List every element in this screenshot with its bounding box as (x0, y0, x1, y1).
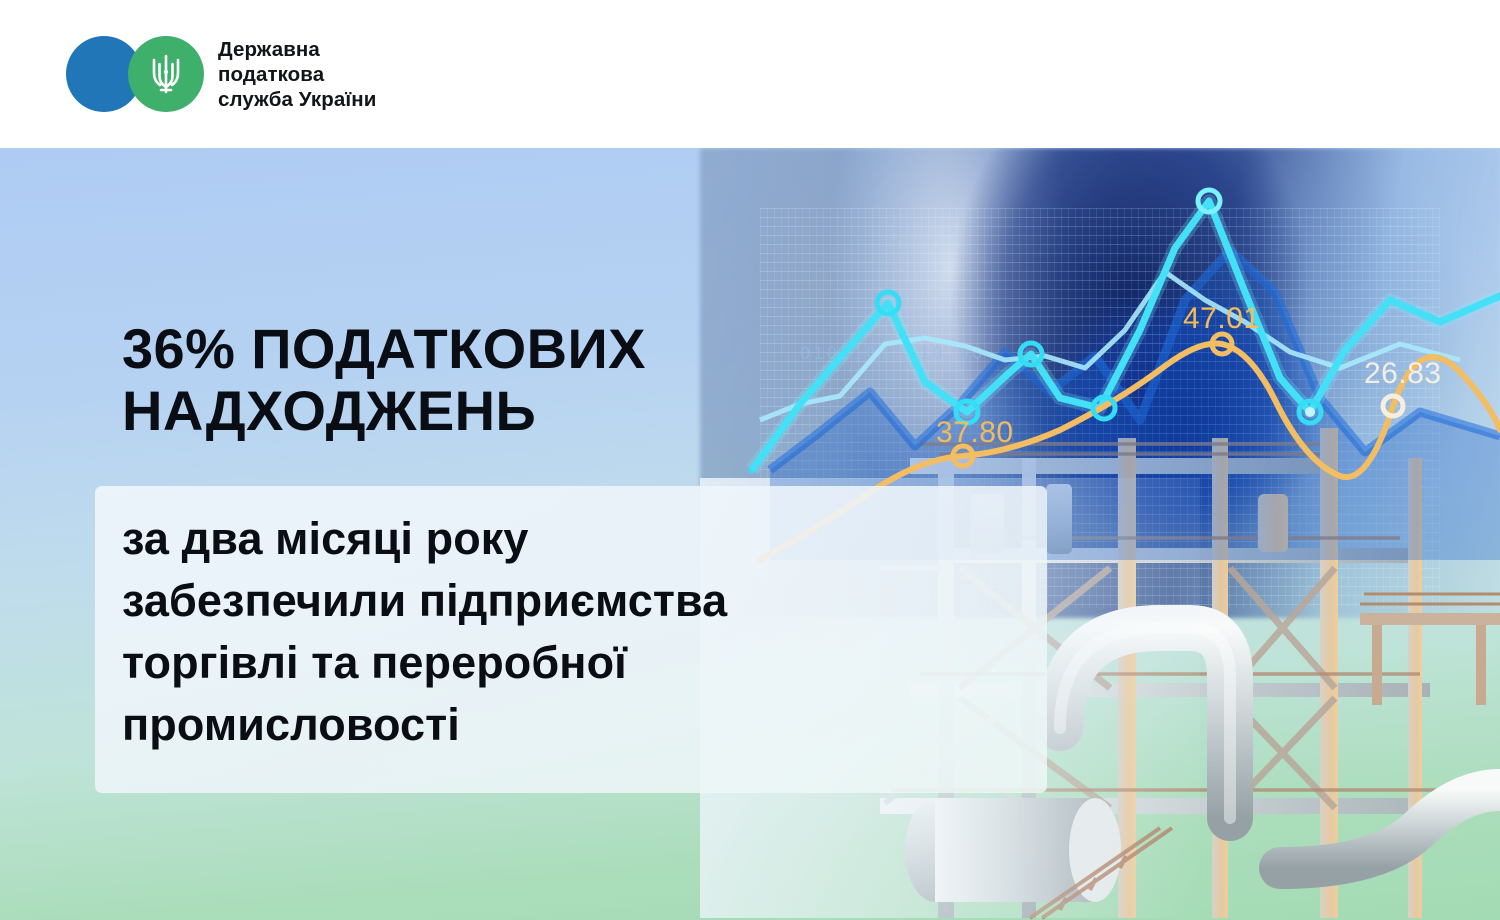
chart-annotation-2: 47.01 (1183, 302, 1261, 336)
logo-marks (66, 36, 204, 112)
ukraine-trident-icon (148, 50, 184, 98)
infographic-poster: Державна податкова служба України 010110… (0, 0, 1500, 920)
header-bar: Державна податкова служба України (0, 0, 1500, 148)
chart-annotation-3: 26.83 (1364, 357, 1442, 391)
subheadline-text: за два місяці року забезпечили підприємс… (122, 508, 1032, 756)
agency-logo: Державна податкова служба України (66, 36, 376, 112)
chart-annotation-1: 37.80 (936, 416, 1014, 450)
digital-readout-text: 0101101 10 00 (800, 344, 985, 364)
logo-text: Державна податкова служба України (218, 37, 376, 112)
page-title: 36% ПОДАТКОВИХ НАДХОДЖЕНЬ (122, 318, 646, 442)
